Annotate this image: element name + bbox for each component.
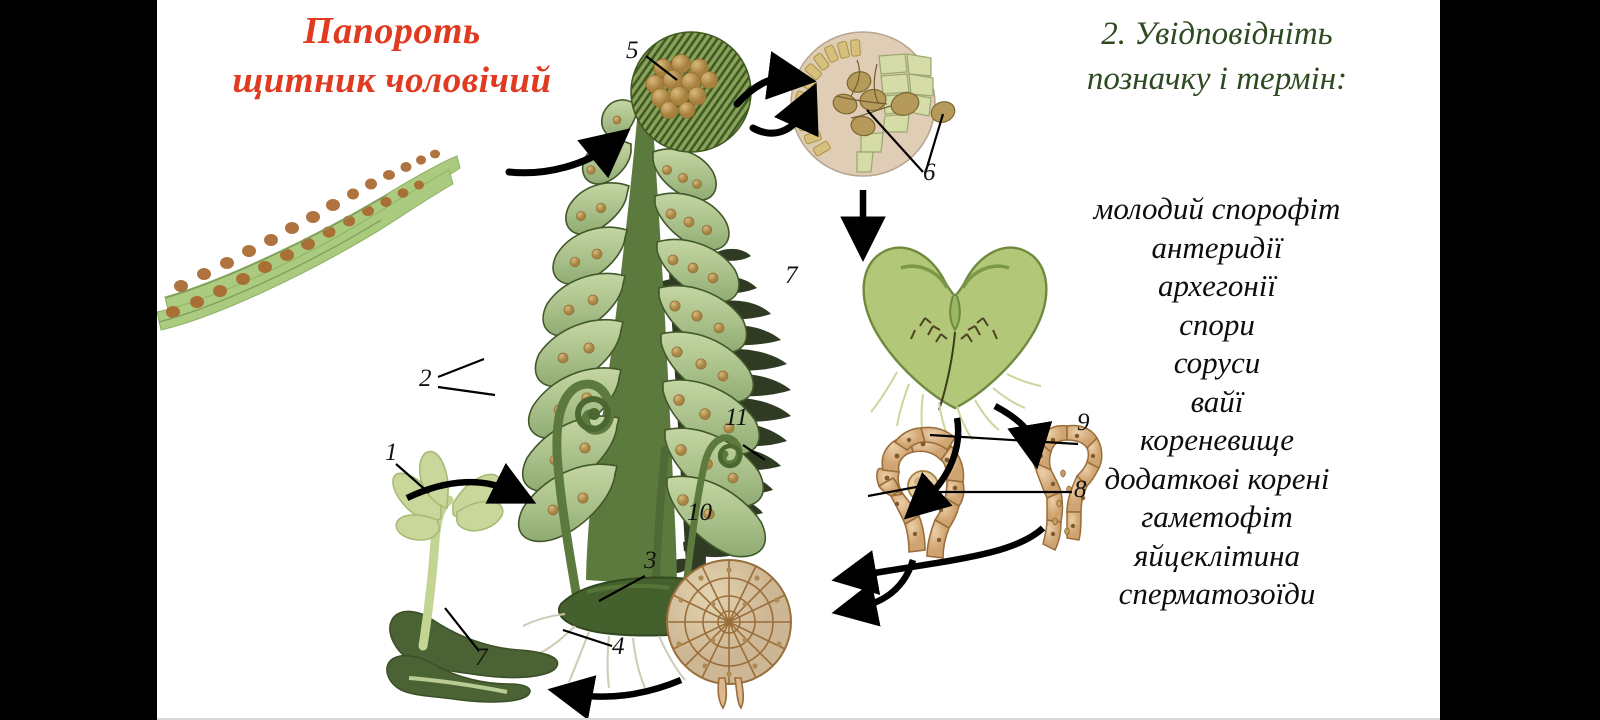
label-3[interactable]: 3 xyxy=(644,548,657,573)
list-item[interactable]: архегонії xyxy=(1002,267,1432,306)
label-7-gametophyte[interactable]: 7 xyxy=(475,645,488,670)
label-4[interactable]: 4 xyxy=(612,634,625,659)
arrow-prothallus-to-archegonium xyxy=(923,418,958,502)
list-item[interactable]: сперматозоїди xyxy=(1002,575,1432,614)
page-title: Папороть щитник чоловічий xyxy=(177,6,607,106)
slide-content: Папороть щитник чоловічий 2. Увідповідні… xyxy=(157,0,1440,720)
list-item[interactable]: гаметофіт xyxy=(1002,498,1432,537)
leader-lines xyxy=(396,56,1078,651)
label-5[interactable]: 5 xyxy=(626,38,639,63)
archegonium xyxy=(877,427,964,558)
sporangium-magnified xyxy=(791,32,958,176)
label-2[interactable]: 2 xyxy=(419,366,432,391)
slide-stage: Папороть щитник чоловічий 2. Увідповідні… xyxy=(0,0,1600,720)
list-item[interactable]: антеридії xyxy=(1002,229,1432,268)
terms-list: молодий спорофіт антеридії архегонії спо… xyxy=(1002,190,1432,614)
list-item[interactable]: вайї xyxy=(1002,383,1432,422)
task-heading-line1: 2. Увідповідніть xyxy=(1101,16,1332,52)
label-11[interactable]: 11 xyxy=(725,405,748,430)
label-8[interactable]: 8 xyxy=(1074,477,1087,502)
fern-title-line1: Папороть xyxy=(303,10,481,52)
list-item[interactable]: спори xyxy=(1002,306,1432,345)
label-1[interactable]: 1 xyxy=(385,440,398,465)
label-9[interactable]: 9 xyxy=(1077,410,1090,435)
arrow-photo-to-sorus xyxy=(509,146,609,173)
zygote-embryo xyxy=(667,560,791,708)
arrow-sporophyte-to-adult xyxy=(407,482,513,498)
label-10[interactable]: 10 xyxy=(687,500,712,525)
list-item[interactable]: кореневище xyxy=(1002,421,1432,460)
label-7-prothallus[interactable]: 7 xyxy=(785,263,798,288)
arrow-sorus-to-sporangium xyxy=(737,78,789,104)
list-item[interactable]: яйцеклітина xyxy=(1002,537,1432,576)
list-item[interactable]: молодий спорофіт xyxy=(1002,190,1432,229)
arrow-frond-to-sorus xyxy=(753,108,805,133)
arrow-to-zygote xyxy=(857,560,913,608)
fern-title-line2: щитник чоловічий xyxy=(177,56,607,106)
sori-photo xyxy=(157,150,460,330)
young-sporophyte xyxy=(387,452,558,702)
label-6[interactable]: 6 xyxy=(923,160,936,185)
adult-frond xyxy=(519,62,766,586)
task-heading-line2: позначку і термін: xyxy=(1087,61,1347,97)
arrow-zygote-to-sporophyte xyxy=(573,680,681,697)
task-heading: 2. Увідповідніть позначку і термін: xyxy=(1002,12,1432,102)
sorus-magnified xyxy=(631,32,751,152)
list-item[interactable]: додаткові корені xyxy=(1002,460,1432,499)
list-item[interactable]: соруси xyxy=(1002,344,1432,383)
